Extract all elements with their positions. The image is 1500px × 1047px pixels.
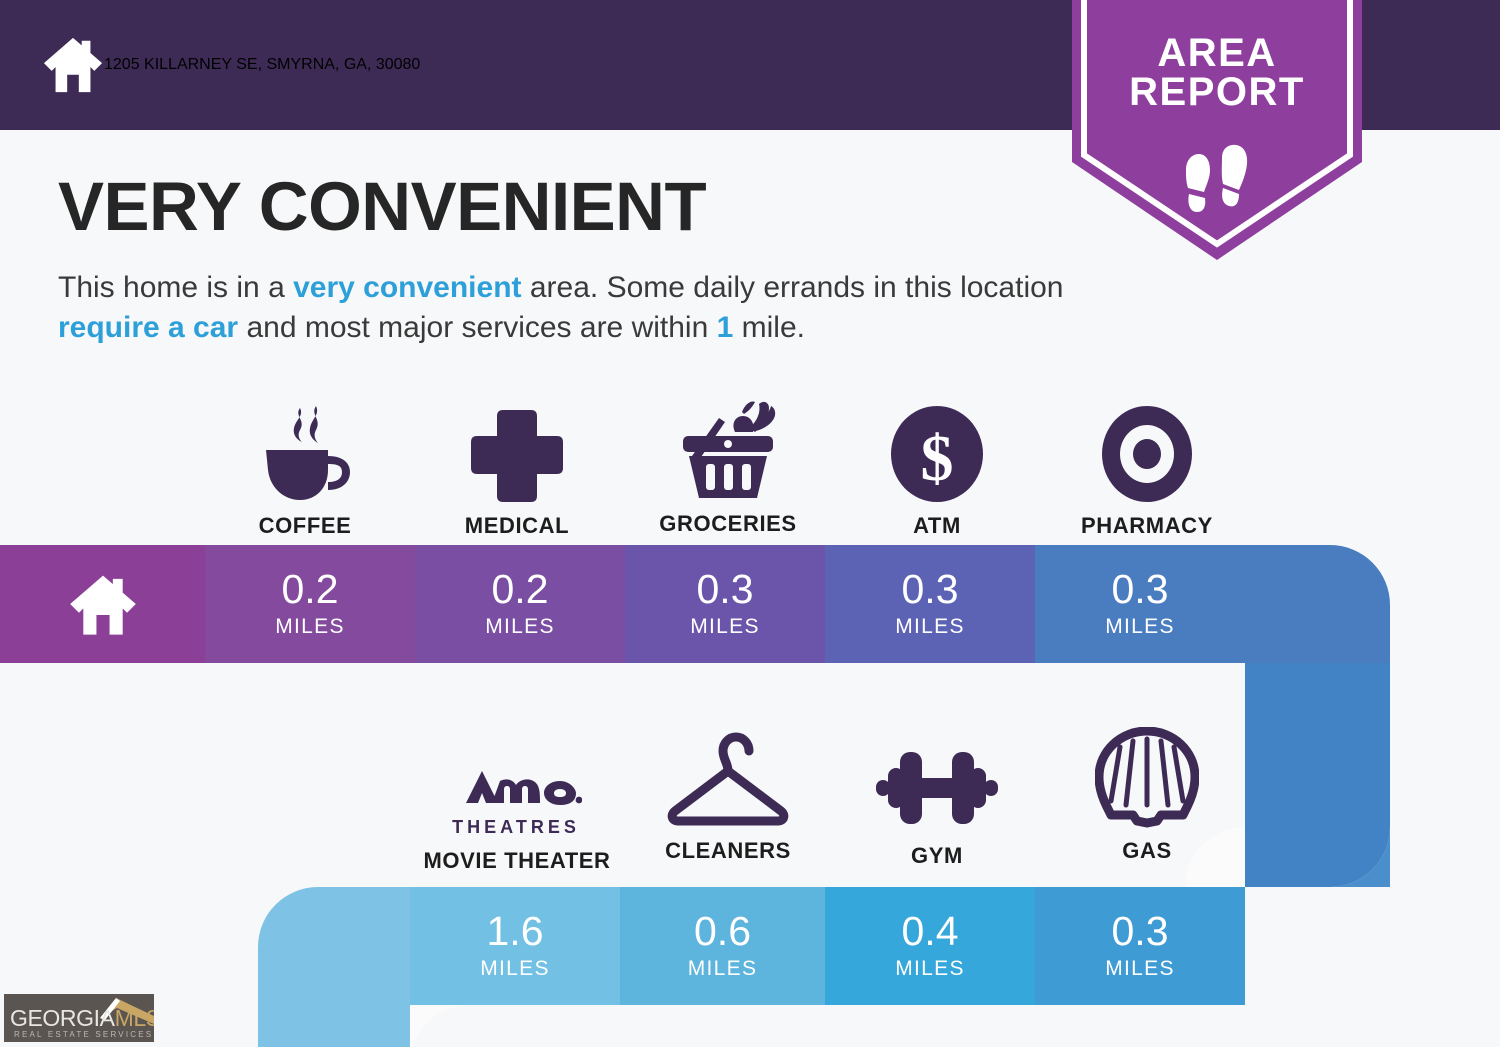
- distance-unit: MILES: [485, 615, 555, 639]
- badge-title: AREA REPORT: [1072, 34, 1362, 112]
- summary-part-4: mile.: [733, 311, 805, 344]
- summary-part-3: and most major services are within: [238, 311, 717, 344]
- distance-cell-atm: 0.3 MILES: [825, 545, 1035, 663]
- icon-cell-coffee: COFFEE: [200, 400, 410, 539]
- medical-icon: [412, 400, 622, 504]
- distance-cell-medical: 0.2 MILES: [415, 545, 625, 663]
- distance-unit: MILES: [480, 957, 550, 981]
- summary-part-1: This home is in a: [58, 271, 293, 304]
- summary-highlight-1: very convenient: [293, 271, 521, 304]
- logo-name-primary: GEORGIA: [10, 1005, 115, 1031]
- icon-label: MEDICAL: [412, 513, 622, 539]
- page-title: VERY CONVENIENT: [58, 172, 706, 241]
- distance-unit: MILES: [690, 615, 760, 639]
- distance-value: 0.3: [697, 569, 754, 610]
- badge-line-1: AREA: [1157, 31, 1276, 75]
- home-icon: [66, 569, 140, 639]
- distance-unit: MILES: [895, 615, 965, 639]
- icon-cell-atm: $ ATM: [832, 400, 1042, 539]
- summary-highlight-3: 1: [717, 311, 734, 344]
- footprints-icon: [1072, 144, 1362, 225]
- distance-unit: MILES: [1105, 957, 1175, 981]
- icon-label: COFFEE: [200, 513, 410, 539]
- distance-unit: MILES: [275, 615, 345, 639]
- icon-cell-medical: MEDICAL: [412, 400, 622, 539]
- icon-label: ATM: [832, 513, 1042, 539]
- ribbon-home-cell: [0, 545, 205, 663]
- distance-cell-groceries: 0.3 MILES: [625, 545, 825, 663]
- icon-cell-groceries: GROCERIES: [623, 398, 833, 537]
- georgia-mls-logo: GEORGIAMLS REAL ESTATE SERVICES: [4, 994, 154, 1042]
- distance-value: 0.4: [902, 911, 959, 952]
- home-icon: [42, 34, 104, 96]
- logo-tagline: REAL ESTATE SERVICES: [14, 1030, 153, 1039]
- distance-cell-gas: 0.3 MILES: [1035, 887, 1245, 1005]
- summary-highlight-2: require a car: [58, 311, 238, 344]
- icon-label: GROCERIES: [623, 511, 833, 537]
- distance-cell-pharmacy: 0.3 MILES: [1035, 545, 1245, 663]
- distance-unit: MILES: [1105, 615, 1175, 639]
- badge-line-2: REPORT: [1129, 70, 1305, 114]
- distance-cell-coffee: 0.2 MILES: [205, 545, 415, 663]
- area-report-badge: AREA REPORT: [1072, 0, 1362, 260]
- svg-text:$: $: [921, 422, 954, 495]
- distance-value: 0.3: [902, 569, 959, 610]
- groceries-icon: [623, 398, 833, 502]
- distance-unit: MILES: [688, 957, 758, 981]
- distance-cell-movie-theater: 1.6 MILES: [410, 887, 620, 1005]
- distance-cell-gym: 0.4 MILES: [825, 887, 1035, 1005]
- distance-value: 0.6: [694, 911, 751, 952]
- distance-unit: MILES: [895, 957, 965, 981]
- header-address: 1205 KILLARNEY SE, SMYRNA, GA, 30080: [104, 56, 420, 74]
- summary-text: This home is in a very convenient area. …: [58, 268, 1068, 347]
- logo-name-secondary: MLS: [115, 1005, 154, 1031]
- summary-part-2: area. Some daily errands in this locatio…: [522, 271, 1064, 304]
- coffee-icon: [200, 400, 410, 504]
- atm-icon: $: [832, 400, 1042, 504]
- distance-cell-cleaners: 0.6 MILES: [620, 887, 825, 1005]
- distance-ribbon: 0.2 MILES 0.2 MILES 0.3 MILES 0.3 MILES …: [0, 545, 1500, 1047]
- distance-value: 0.2: [492, 569, 549, 610]
- pharmacy-icon: [1042, 400, 1252, 504]
- icon-label: PHARMACY: [1042, 513, 1252, 539]
- distance-value: 0.3: [1112, 569, 1169, 610]
- distance-value: 0.3: [1112, 911, 1169, 952]
- distance-value: 0.2: [282, 569, 339, 610]
- distance-value: 1.6: [487, 911, 544, 952]
- icon-cell-pharmacy: PHARMACY: [1042, 400, 1252, 539]
